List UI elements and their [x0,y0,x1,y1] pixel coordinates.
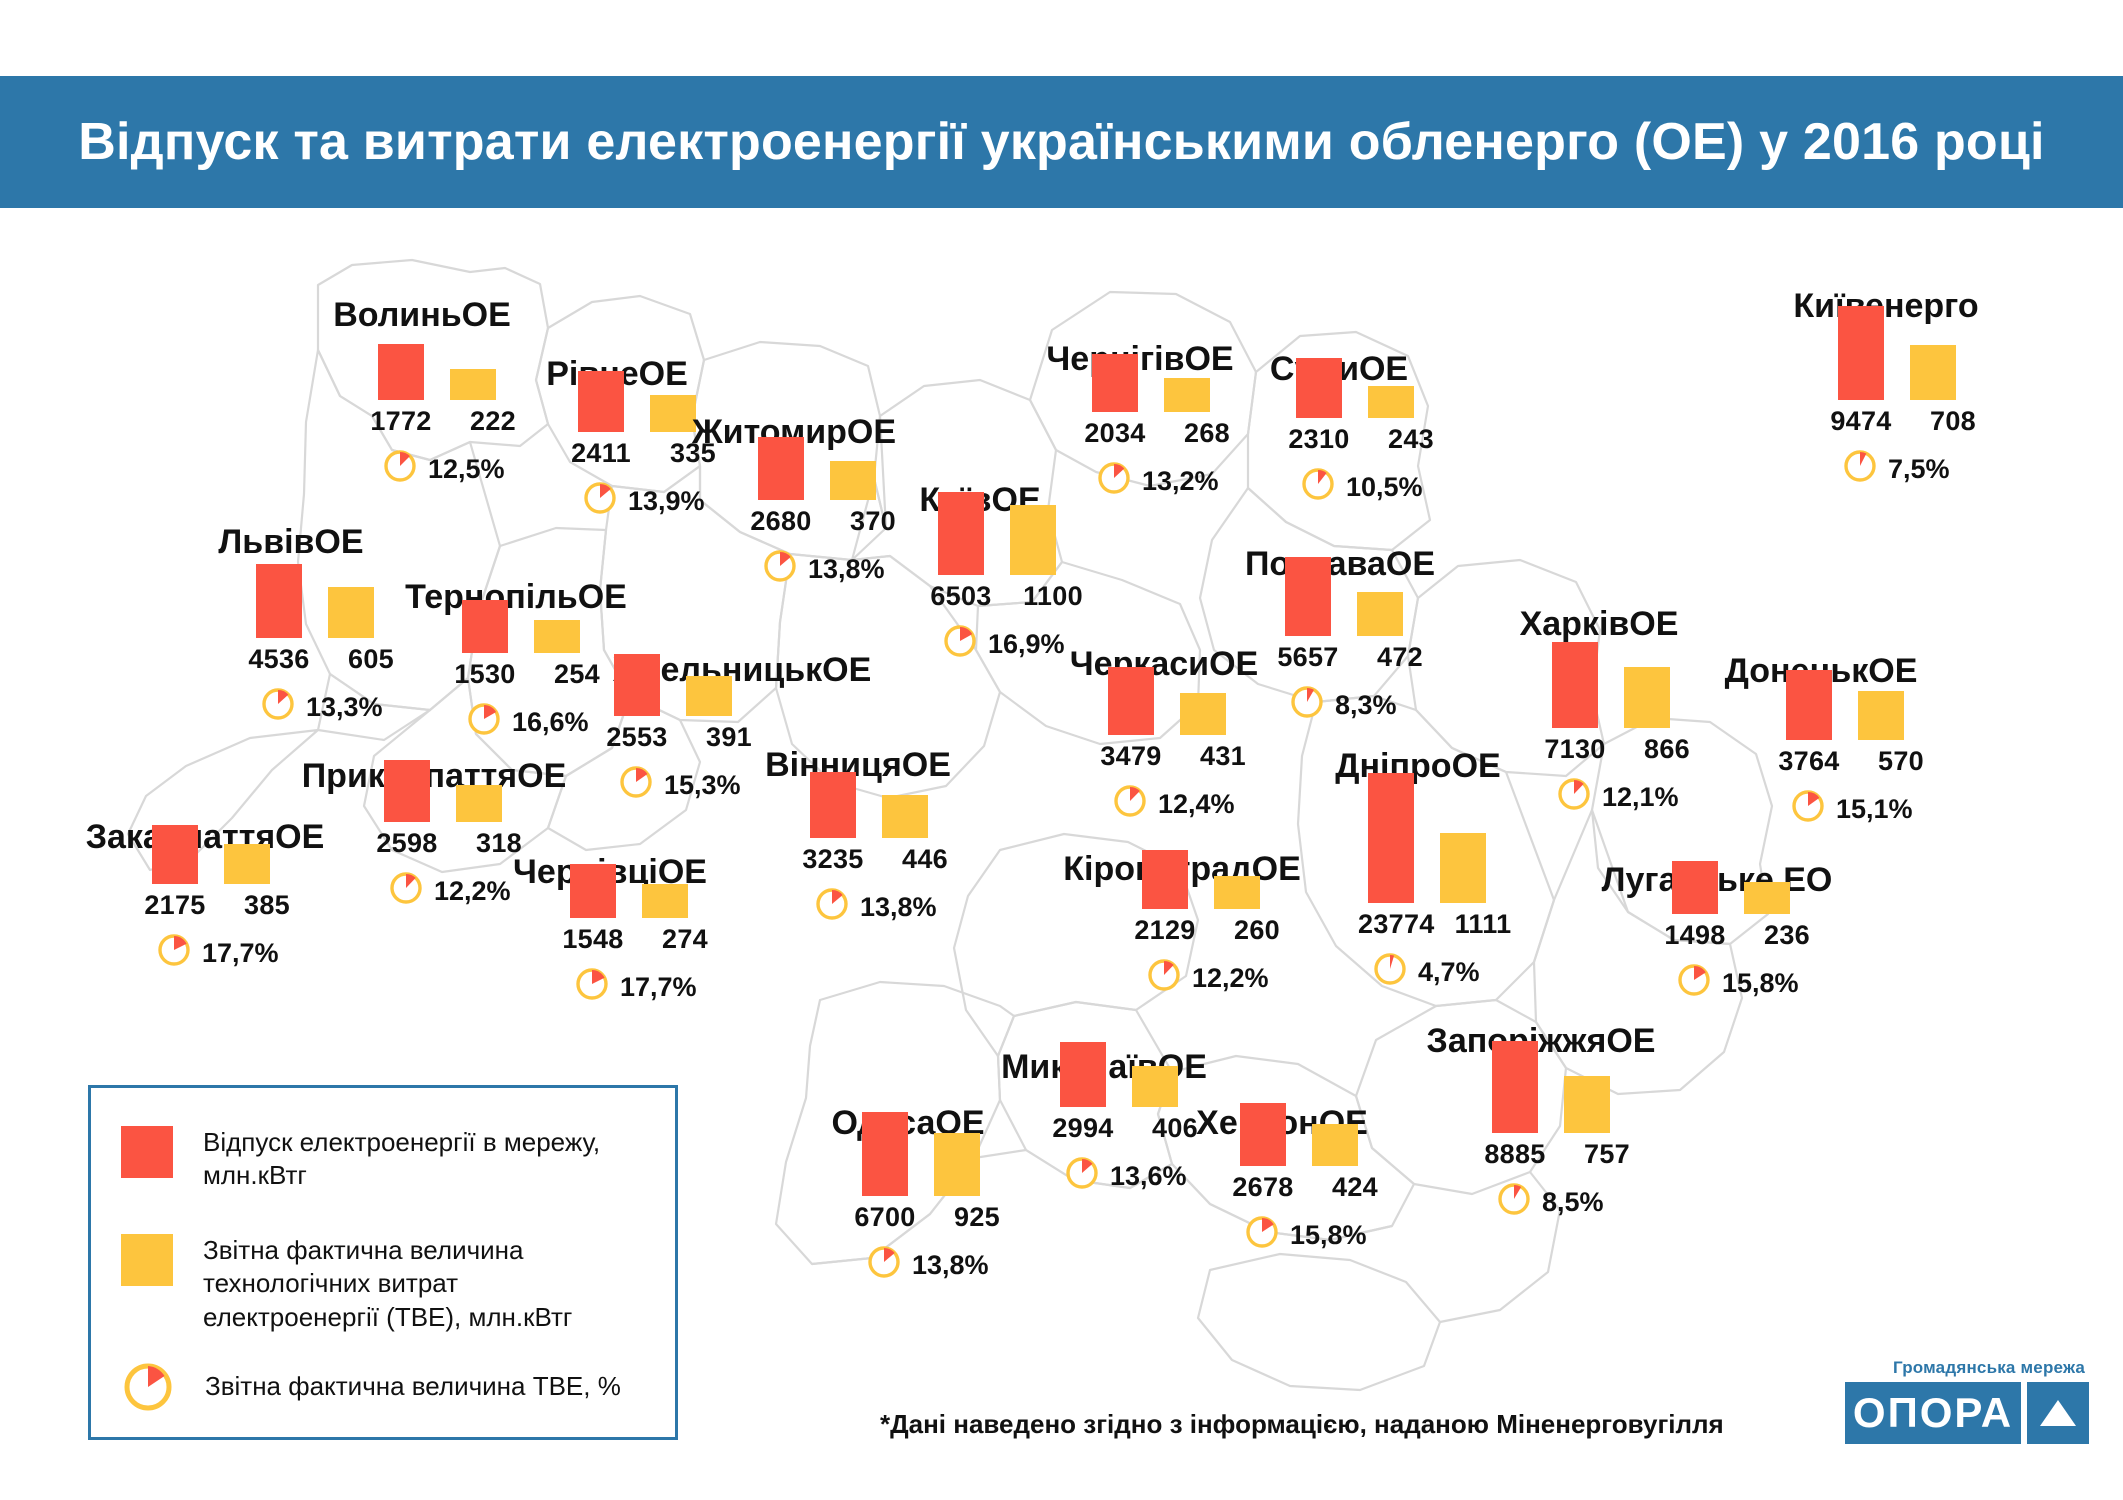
value-losses-zaporizhzhia: 757 [1574,1139,1640,1170]
region-percent-kirovograd: 12,2% [1146,957,1269,1000]
percent-label-khmelnytsk: 15,3% [664,770,741,801]
percent-label-zhytomyr: 13,8% [808,554,885,585]
region-values-mykolaiv: 2994 406 [1050,1113,1208,1144]
region-values-odesa: 6700 925 [852,1202,1010,1233]
bar-supply-kirovograd [1142,850,1188,909]
bar-losses-rivne [650,395,696,432]
bar-supply-donetsk [1786,670,1832,740]
region-values-sumy: 2310 243 [1286,424,1444,455]
value-supply-lviv: 4536 [246,644,312,675]
opora-triangle-icon [2027,1382,2089,1444]
bar-losses-donetsk [1858,691,1904,740]
legend-label-losses: Звітна фактична величина технологічних в… [203,1234,641,1334]
donut-icon-kyiv [942,623,978,666]
region-bars-prykarpattia [384,760,502,822]
percent-label-kharkiv: 12,1% [1602,782,1679,813]
bar-supply-khmelnytsk [614,654,660,716]
region-values-chernivtsi: 1548 274 [560,924,718,955]
opora-tagline: Громадянська мережа [1893,1358,2085,1378]
region-label-volyn: ВолиньОЕ [333,296,511,335]
bar-supply-chernivtsi [570,864,616,918]
legend-swatch-yellow-icon [121,1234,173,1286]
bar-supply-lviv [256,564,302,638]
value-supply-cherkasy: 3479 [1098,741,1164,772]
region-values-khmelnytsk: 2553 391 [604,722,762,753]
value-losses-chernihiv: 268 [1174,418,1240,449]
value-supply-vinnytsia: 3235 [800,844,866,875]
percent-label-poltava: 8,3% [1335,690,1397,721]
percent-label-sumy: 10,5% [1346,472,1423,503]
legend-label-supply: Відпуск електроенергії в мережу, млн.кВт… [203,1126,641,1193]
donut-icon-luhansk [1676,962,1712,1005]
bar-supply-rivne [578,371,624,432]
region-bars-poltava [1285,557,1403,636]
donut-icon-poltava [1289,684,1325,727]
region-percent-volyn: 12,5% [382,448,505,491]
value-losses-lviv: 605 [338,644,404,675]
bar-supply-zhytomyr [758,437,804,500]
value-losses-vinnytsia: 446 [892,844,958,875]
value-losses-cherkasy: 431 [1190,741,1256,772]
percent-label-vinnytsia: 13,8% [860,892,937,923]
region-percent-vinnytsia: 13,8% [814,886,937,929]
value-losses-zakarpattia: 385 [234,890,300,921]
region-bars-odesa [862,1112,980,1196]
region-bars-zaporizhzhia [1492,1041,1610,1133]
region-values-zakarpattia: 2175 385 [142,890,300,921]
value-losses-sumy: 243 [1378,424,1444,455]
donut-icon-prykarpattia [388,870,424,913]
region-bars-lviv [256,564,374,638]
bar-losses-vinnytsia [882,795,928,838]
percent-label-zaporizhzhia: 8,5% [1542,1187,1604,1218]
bar-supply-zaporizhzhia [1492,1041,1538,1133]
region-bars-kherson [1240,1103,1358,1166]
value-supply-donetsk: 3764 [1776,746,1842,777]
donut-icon-lviv [260,686,296,729]
donut-icon-dnipro [1372,951,1408,994]
bar-losses-mykolaiv [1132,1066,1178,1107]
region-values-chernihiv: 2034 268 [1082,418,1240,449]
value-supply-chernivtsi: 1548 [560,924,626,955]
donut-icon-kyivenergo [1842,448,1878,491]
bar-losses-kharkiv [1624,667,1670,728]
region-percent-chernihiv: 13,2% [1096,460,1219,503]
region-percent-sumy: 10,5% [1300,466,1423,509]
bar-supply-dnipro [1368,773,1414,903]
region-percent-prykarpattia: 12,2% [388,870,511,913]
region-bars-rivne [578,371,696,432]
region-values-volyn: 1772 222 [368,406,526,437]
bar-supply-cherkasy [1108,667,1154,735]
bar-supply-odesa [862,1112,908,1196]
bar-losses-ternopil [534,620,580,653]
legend-swatch-red-icon [121,1126,173,1178]
bar-supply-chernihiv [1092,354,1138,412]
donut-icon-zhytomyr [762,548,798,591]
percent-label-kherson: 15,8% [1290,1220,1367,1251]
bar-losses-kirovograd [1214,876,1260,909]
region-values-ternopil: 1530 254 [452,659,610,690]
region-values-kherson: 2678 424 [1230,1172,1388,1203]
percent-label-cherkasy: 12,4% [1158,789,1235,820]
region-bars-dnipro [1368,773,1486,903]
region-label-lviv: ЛьвівОЕ [218,523,363,562]
region-values-dnipro: 23774 1111 [1358,909,1516,940]
region-bars-kirovograd [1142,850,1260,909]
bar-losses-odesa [934,1133,980,1196]
bar-losses-prykarpattia [456,785,502,822]
bar-losses-chernihiv [1164,378,1210,412]
bar-losses-volyn [450,369,496,400]
percent-label-ternopil: 16,6% [512,707,589,738]
bar-losses-sumy [1368,386,1414,418]
percent-label-dnipro: 4,7% [1418,957,1480,988]
donut-icon-volyn [382,448,418,491]
value-supply-khmelnytsk: 2553 [604,722,670,753]
bar-losses-cherkasy [1180,693,1226,735]
percent-label-rivne: 13,9% [628,486,705,517]
value-losses-khmelnytsk: 391 [696,722,762,753]
opora-wordmark: ОПОРА [1845,1382,2021,1444]
bar-losses-khmelnytsk [686,676,732,716]
donut-icon-odesa [866,1244,902,1287]
donut-icon-kherson [1244,1214,1280,1257]
page-title: Відпуск та витрати електроенергії україн… [78,112,2044,172]
region-bars-donetsk [1786,670,1904,740]
bar-supply-ternopil [462,600,508,653]
region-percent-kyivenergo: 7,5% [1842,448,1950,491]
region-values-lviv: 4536 605 [246,644,404,675]
percent-label-luhansk: 15,8% [1722,968,1799,999]
value-supply-kharkiv: 7130 [1542,734,1608,765]
region-values-zhytomyr: 2680 370 [748,506,906,537]
region-bars-chernihiv [1092,354,1210,412]
percent-label-chernihiv: 13,2% [1142,466,1219,497]
bar-supply-kyivenergo [1838,306,1884,400]
region-values-kirovograd: 2129 260 [1132,915,1290,946]
region-bars-zhytomyr [758,437,876,500]
region-percent-ternopil: 16,6% [466,701,589,744]
region-percent-dnipro: 4,7% [1372,951,1480,994]
percent-label-prykarpattia: 12,2% [434,876,511,907]
region-bars-kharkiv [1552,642,1670,728]
region-values-vinnytsia: 3235 446 [800,844,958,875]
value-supply-zaporizhzhia: 8885 [1482,1139,1548,1170]
value-losses-dnipro: 1111 [1450,909,1516,940]
bar-supply-prykarpattia [384,760,430,822]
value-supply-volyn: 1772 [368,406,434,437]
region-percent-khmelnytsk: 15,3% [618,764,741,807]
region-percent-odesa: 13,8% [866,1244,989,1287]
value-supply-zhytomyr: 2680 [748,506,814,537]
legend-item-supply: Відпуск електроенергії в мережу, млн.кВт… [121,1126,641,1193]
bar-supply-kharkiv [1552,642,1598,728]
page-header: Відпуск та витрати електроенергії україн… [0,76,2123,208]
bar-losses-zhytomyr [830,461,876,500]
legend-item-percent: Звітна фактична величина ТВЕ, % [121,1360,641,1419]
region-percent-lviv: 13,3% [260,686,383,729]
value-losses-kyivenergo: 708 [1920,406,1986,437]
bar-losses-luhansk [1744,882,1790,914]
region-bars-sumy [1296,358,1414,418]
donut-icon-kharkiv [1556,776,1592,819]
percent-label-kirovograd: 12,2% [1192,963,1269,994]
value-supply-sumy: 2310 [1286,424,1352,455]
region-values-kyiv: 6503 1100 [928,581,1086,612]
value-losses-zhytomyr: 370 [840,506,906,537]
donut-icon-khmelnytsk [618,764,654,807]
donut-icon-chernivtsi [574,966,610,1009]
percent-label-zakarpattia: 17,7% [202,938,279,969]
value-losses-donetsk: 570 [1868,746,1934,777]
donut-icon-mykolaiv [1064,1155,1100,1198]
donut-icon-sumy [1300,466,1336,509]
bar-supply-zakarpattia [152,825,198,884]
value-losses-ternopil: 254 [544,659,610,690]
value-losses-kherson: 424 [1322,1172,1388,1203]
region-values-kharkiv: 7130 866 [1542,734,1700,765]
bar-losses-dnipro [1440,833,1486,903]
value-supply-kyiv: 6503 [928,581,994,612]
region-bars-chernivtsi [570,864,688,918]
donut-icon-zaporizhzhia [1496,1181,1532,1224]
percent-label-mykolaiv: 13,6% [1110,1161,1187,1192]
donut-icon-rivne [582,480,618,523]
value-supply-chernihiv: 2034 [1082,418,1148,449]
region-bars-zakarpattia [152,825,270,884]
bar-supply-mykolaiv [1060,1042,1106,1107]
region-values-kyivenergo: 9474 708 [1828,406,1986,437]
region-percent-zhytomyr: 13,8% [762,548,885,591]
region-percent-zakarpattia: 17,7% [156,932,279,975]
region-values-prykarpattia: 2598 318 [374,828,532,859]
value-supply-poltava: 5657 [1275,642,1341,673]
value-supply-kherson: 2678 [1230,1172,1296,1203]
legend-donut-icon [121,1360,175,1419]
value-losses-luhansk: 236 [1754,920,1820,951]
region-bars-khmelnytsk [614,654,732,716]
region-bars-kyiv [938,492,1056,575]
region-percent-poltava: 8,3% [1289,684,1397,727]
region-percent-chernivtsi: 17,7% [574,966,697,1009]
value-losses-poltava: 472 [1367,642,1433,673]
value-supply-luhansk: 1498 [1662,920,1728,951]
bar-supply-vinnytsia [810,772,856,838]
region-percent-cherkasy: 12,4% [1112,783,1235,826]
percent-label-odesa: 13,8% [912,1250,989,1281]
region-bars-vinnytsia [810,772,928,838]
value-losses-volyn: 222 [460,406,526,437]
value-supply-zakarpattia: 2175 [142,890,208,921]
region-bars-ternopil [462,600,580,653]
region-bars-luhansk [1672,861,1790,914]
value-losses-kyiv: 1100 [1020,581,1086,612]
value-losses-kirovograd: 260 [1224,915,1290,946]
region-bars-cherkasy [1108,667,1226,735]
bar-supply-kherson [1240,1103,1286,1166]
value-supply-rivne: 2411 [568,438,634,469]
bar-losses-zaporizhzhia [1564,1076,1610,1133]
bar-losses-lviv [328,587,374,638]
region-bars-volyn [378,344,496,400]
bar-losses-poltava [1357,592,1403,636]
opora-logo: Громадянська мережа ОПОРА [1845,1358,2083,1458]
region-values-cherkasy: 3479 431 [1098,741,1256,772]
region-label-kharkiv: ХарківОЕ [1520,605,1679,644]
region-percent-kharkiv: 12,1% [1556,776,1679,819]
region-values-luhansk: 1498 236 [1662,920,1820,951]
legend-label-percent: Звітна фактична величина ТВЕ, % [205,1370,621,1403]
donut-icon-kirovograd [1146,957,1182,1000]
region-percent-kyiv: 16,9% [942,623,1065,666]
value-losses-odesa: 925 [944,1202,1010,1233]
region-percent-donetsk: 15,1% [1790,788,1913,831]
donut-icon-vinnytsia [814,886,850,929]
region-percent-kherson: 15,8% [1244,1214,1367,1257]
region-bars-kyivenergo [1838,306,1956,400]
bar-losses-kyivenergo [1910,345,1956,400]
value-supply-odesa: 6700 [852,1202,918,1233]
donut-icon-donetsk [1790,788,1826,831]
bar-losses-kherson [1312,1124,1358,1166]
donut-icon-cherkasy [1112,783,1148,826]
value-supply-kyivenergo: 9474 [1828,406,1894,437]
value-supply-prykarpattia: 2598 [374,828,440,859]
footnote: *Дані наведено згідно з інформацією, над… [880,1409,1724,1440]
region-percent-rivne: 13,9% [582,480,705,523]
donut-icon-chernihiv [1096,460,1132,503]
bar-losses-kyiv [1010,505,1056,575]
percent-label-donetsk: 15,1% [1836,794,1913,825]
region-values-donetsk: 3764 570 [1776,746,1934,777]
value-supply-dnipro: 23774 [1358,909,1424,940]
legend: Відпуск електроенергії в мережу, млн.кВт… [88,1085,678,1440]
bar-supply-sumy [1296,358,1342,418]
value-supply-ternopil: 1530 [452,659,518,690]
value-losses-chernivtsi: 274 [652,924,718,955]
bar-supply-luhansk [1672,861,1718,914]
percent-label-chernivtsi: 17,7% [620,972,697,1003]
percent-label-volyn: 12,5% [428,454,505,485]
value-losses-kharkiv: 866 [1634,734,1700,765]
donut-icon-zakarpattia [156,932,192,975]
bar-supply-volyn [378,344,424,400]
region-values-poltava: 5657 472 [1275,642,1433,673]
value-supply-kirovograd: 2129 [1132,915,1198,946]
percent-label-lviv: 13,3% [306,692,383,723]
percent-label-kyiv: 16,9% [988,629,1065,660]
region-percent-luhansk: 15,8% [1676,962,1799,1005]
donut-icon-ternopil [466,701,502,744]
bar-losses-zakarpattia [224,844,270,884]
percent-label-kyivenergo: 7,5% [1888,454,1950,485]
region-percent-zaporizhzhia: 8,5% [1496,1181,1604,1224]
region-bars-mykolaiv [1060,1042,1178,1107]
bar-losses-chernivtsi [642,884,688,918]
bar-supply-poltava [1285,557,1331,636]
bar-supply-kyiv [938,492,984,575]
region-values-zaporizhzhia: 8885 757 [1482,1139,1640,1170]
legend-item-losses: Звітна фактична величина технологічних в… [121,1234,641,1334]
region-percent-mykolaiv: 13,6% [1064,1155,1187,1198]
value-supply-mykolaiv: 2994 [1050,1113,1116,1144]
